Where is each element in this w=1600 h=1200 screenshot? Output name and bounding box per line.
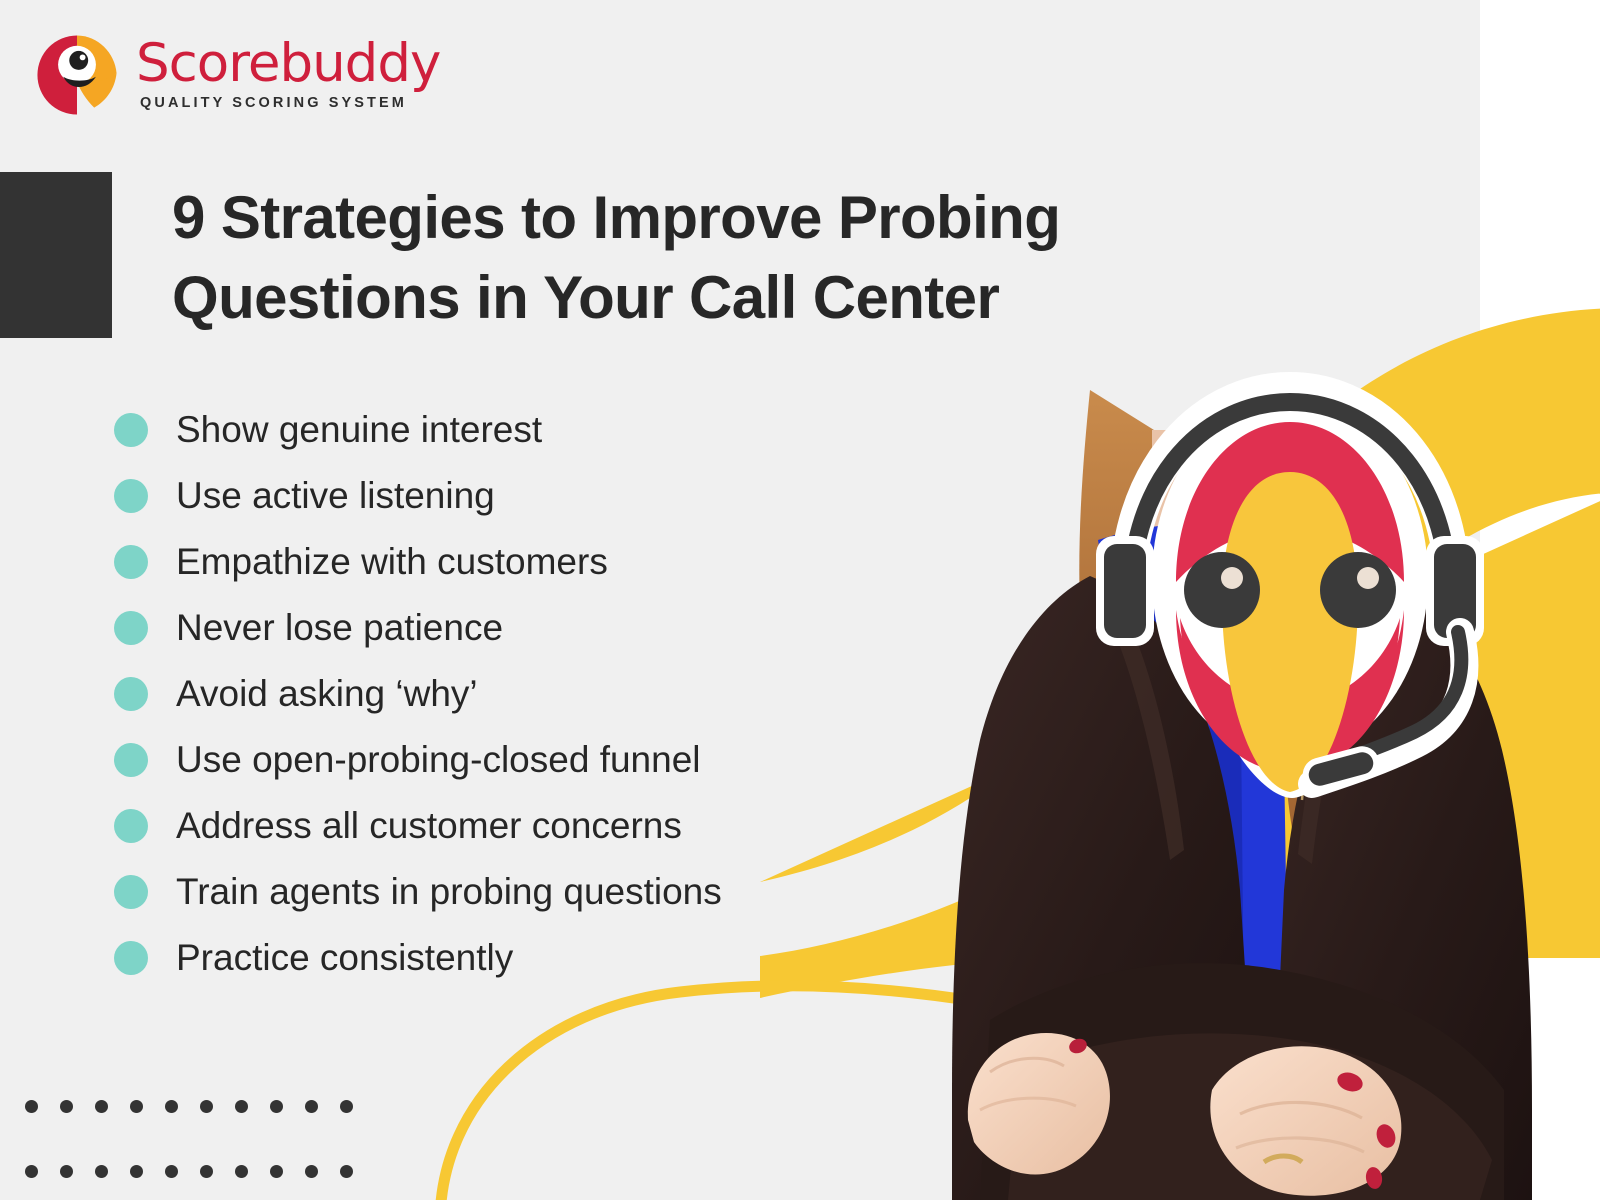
grid-dot [305,1165,318,1178]
dot-grid-decoration [25,1100,375,1200]
grid-dot [130,1100,143,1113]
parrot-logo-icon [34,32,120,118]
grid-dot [340,1165,353,1178]
grid-dot [60,1100,73,1113]
list-item-label: Avoid asking ‘why’ [176,673,478,715]
list-item: Practice consistently [114,925,994,991]
bullet-dot-icon [114,413,148,447]
photo-white-backdrop [1480,0,1600,1200]
parrot-headset-mask [1080,360,1500,800]
bullet-dot-icon [114,479,148,513]
bullet-dot-icon [114,941,148,975]
strategy-list: Show genuine interest Use active listeni… [114,397,994,991]
list-item-label: Train agents in probing questions [176,871,722,913]
brand-logo[interactable]: Scorebuddy QUALITY SCORING SYSTEM [34,32,440,118]
list-item: Address all customer concerns [114,793,994,859]
grid-dot [270,1165,283,1178]
list-item: Never lose patience [114,595,994,661]
brand-name: Scorebuddy [136,39,440,89]
bullet-dot-icon [114,743,148,777]
title-line-1: 9 Strategies to Improve Probing [172,184,1060,251]
list-item-label: Use active listening [176,475,495,517]
bullet-dot-icon [114,545,148,579]
list-item-label: Never lose patience [176,607,503,649]
accent-square [0,172,112,338]
list-item: Use open-probing-closed funnel [114,727,994,793]
brand-tagline: QUALITY SCORING SYSTEM [140,95,440,111]
grid-dot [235,1165,248,1178]
list-item-label: Empathize with customers [176,541,608,583]
title-line-2: Questions in Your Call Center [172,264,999,331]
bullet-dot-icon [114,875,148,909]
grid-dot [200,1100,213,1113]
list-item-label: Show genuine interest [176,409,542,451]
grid-dot [130,1165,143,1178]
list-item: Empathize with customers [114,529,994,595]
list-item-label: Address all customer concerns [176,805,682,847]
grid-dot [200,1165,213,1178]
list-item: Use active listening [114,463,994,529]
grid-dot [95,1100,108,1113]
list-item: Show genuine interest [114,397,994,463]
infographic-canvas: Scorebuddy QUALITY SCORING SYSTEM 9 Stra… [0,0,1600,1200]
bullet-dot-icon [114,677,148,711]
grid-dot [165,1100,178,1113]
grid-dot [25,1100,38,1113]
grid-dot [25,1165,38,1178]
grid-dot [60,1165,73,1178]
list-item-label: Use open-probing-closed funnel [176,739,701,781]
grid-dot [270,1100,283,1113]
page-title: 9 Strategies to Improve Probing Question… [172,178,1292,338]
list-item-label: Practice consistently [176,937,513,979]
grid-dot [305,1100,318,1113]
list-item: Train agents in probing questions [114,859,994,925]
grid-dot [165,1165,178,1178]
grid-dot [95,1165,108,1178]
bullet-dot-icon [114,611,148,645]
list-item: Avoid asking ‘why’ [114,661,994,727]
bullet-dot-icon [114,809,148,843]
grid-dot [235,1100,248,1113]
grid-dot [340,1100,353,1113]
